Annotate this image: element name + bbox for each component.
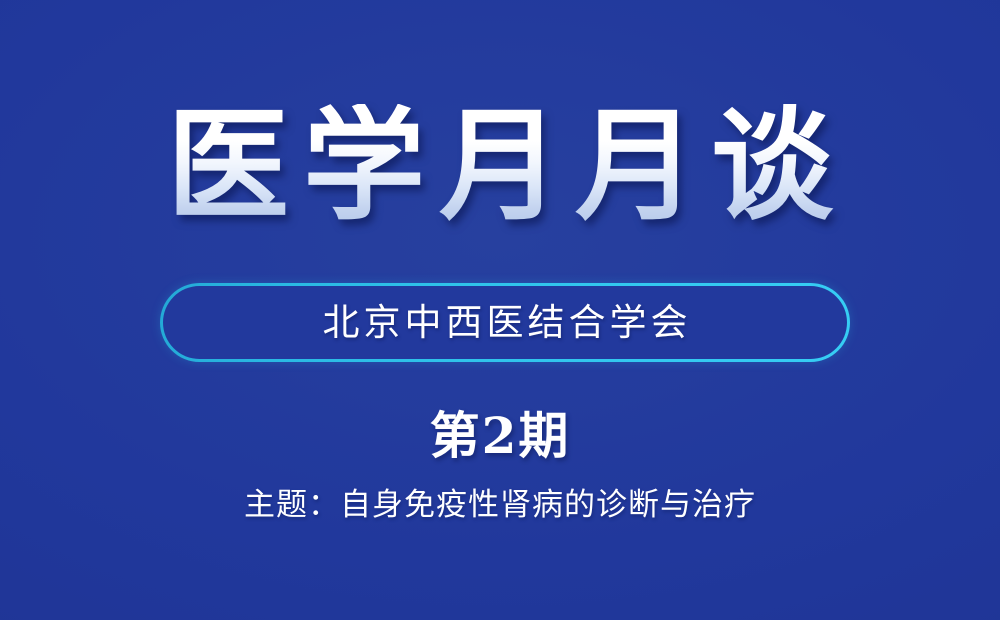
issue-number: 第2期 xyxy=(0,408,1000,463)
organization-name: 北京中西医结合学会 xyxy=(319,304,692,341)
topic-subtitle: 主题：自身免疫性肾病的诊断与治疗 xyxy=(0,487,1000,524)
organization-pill-inner: 北京中西医结合学会 xyxy=(163,286,847,359)
organization-pill: 北京中西医结合学会 xyxy=(160,283,850,362)
page-title: 医学月月谈 xyxy=(153,104,847,226)
title-block: 医学月月谈 xyxy=(0,104,1000,226)
poster-canvas: 医学月月谈 北京中西医结合学会 第2期 主题：自身免疫性肾病的诊断与治疗 xyxy=(0,0,1000,620)
